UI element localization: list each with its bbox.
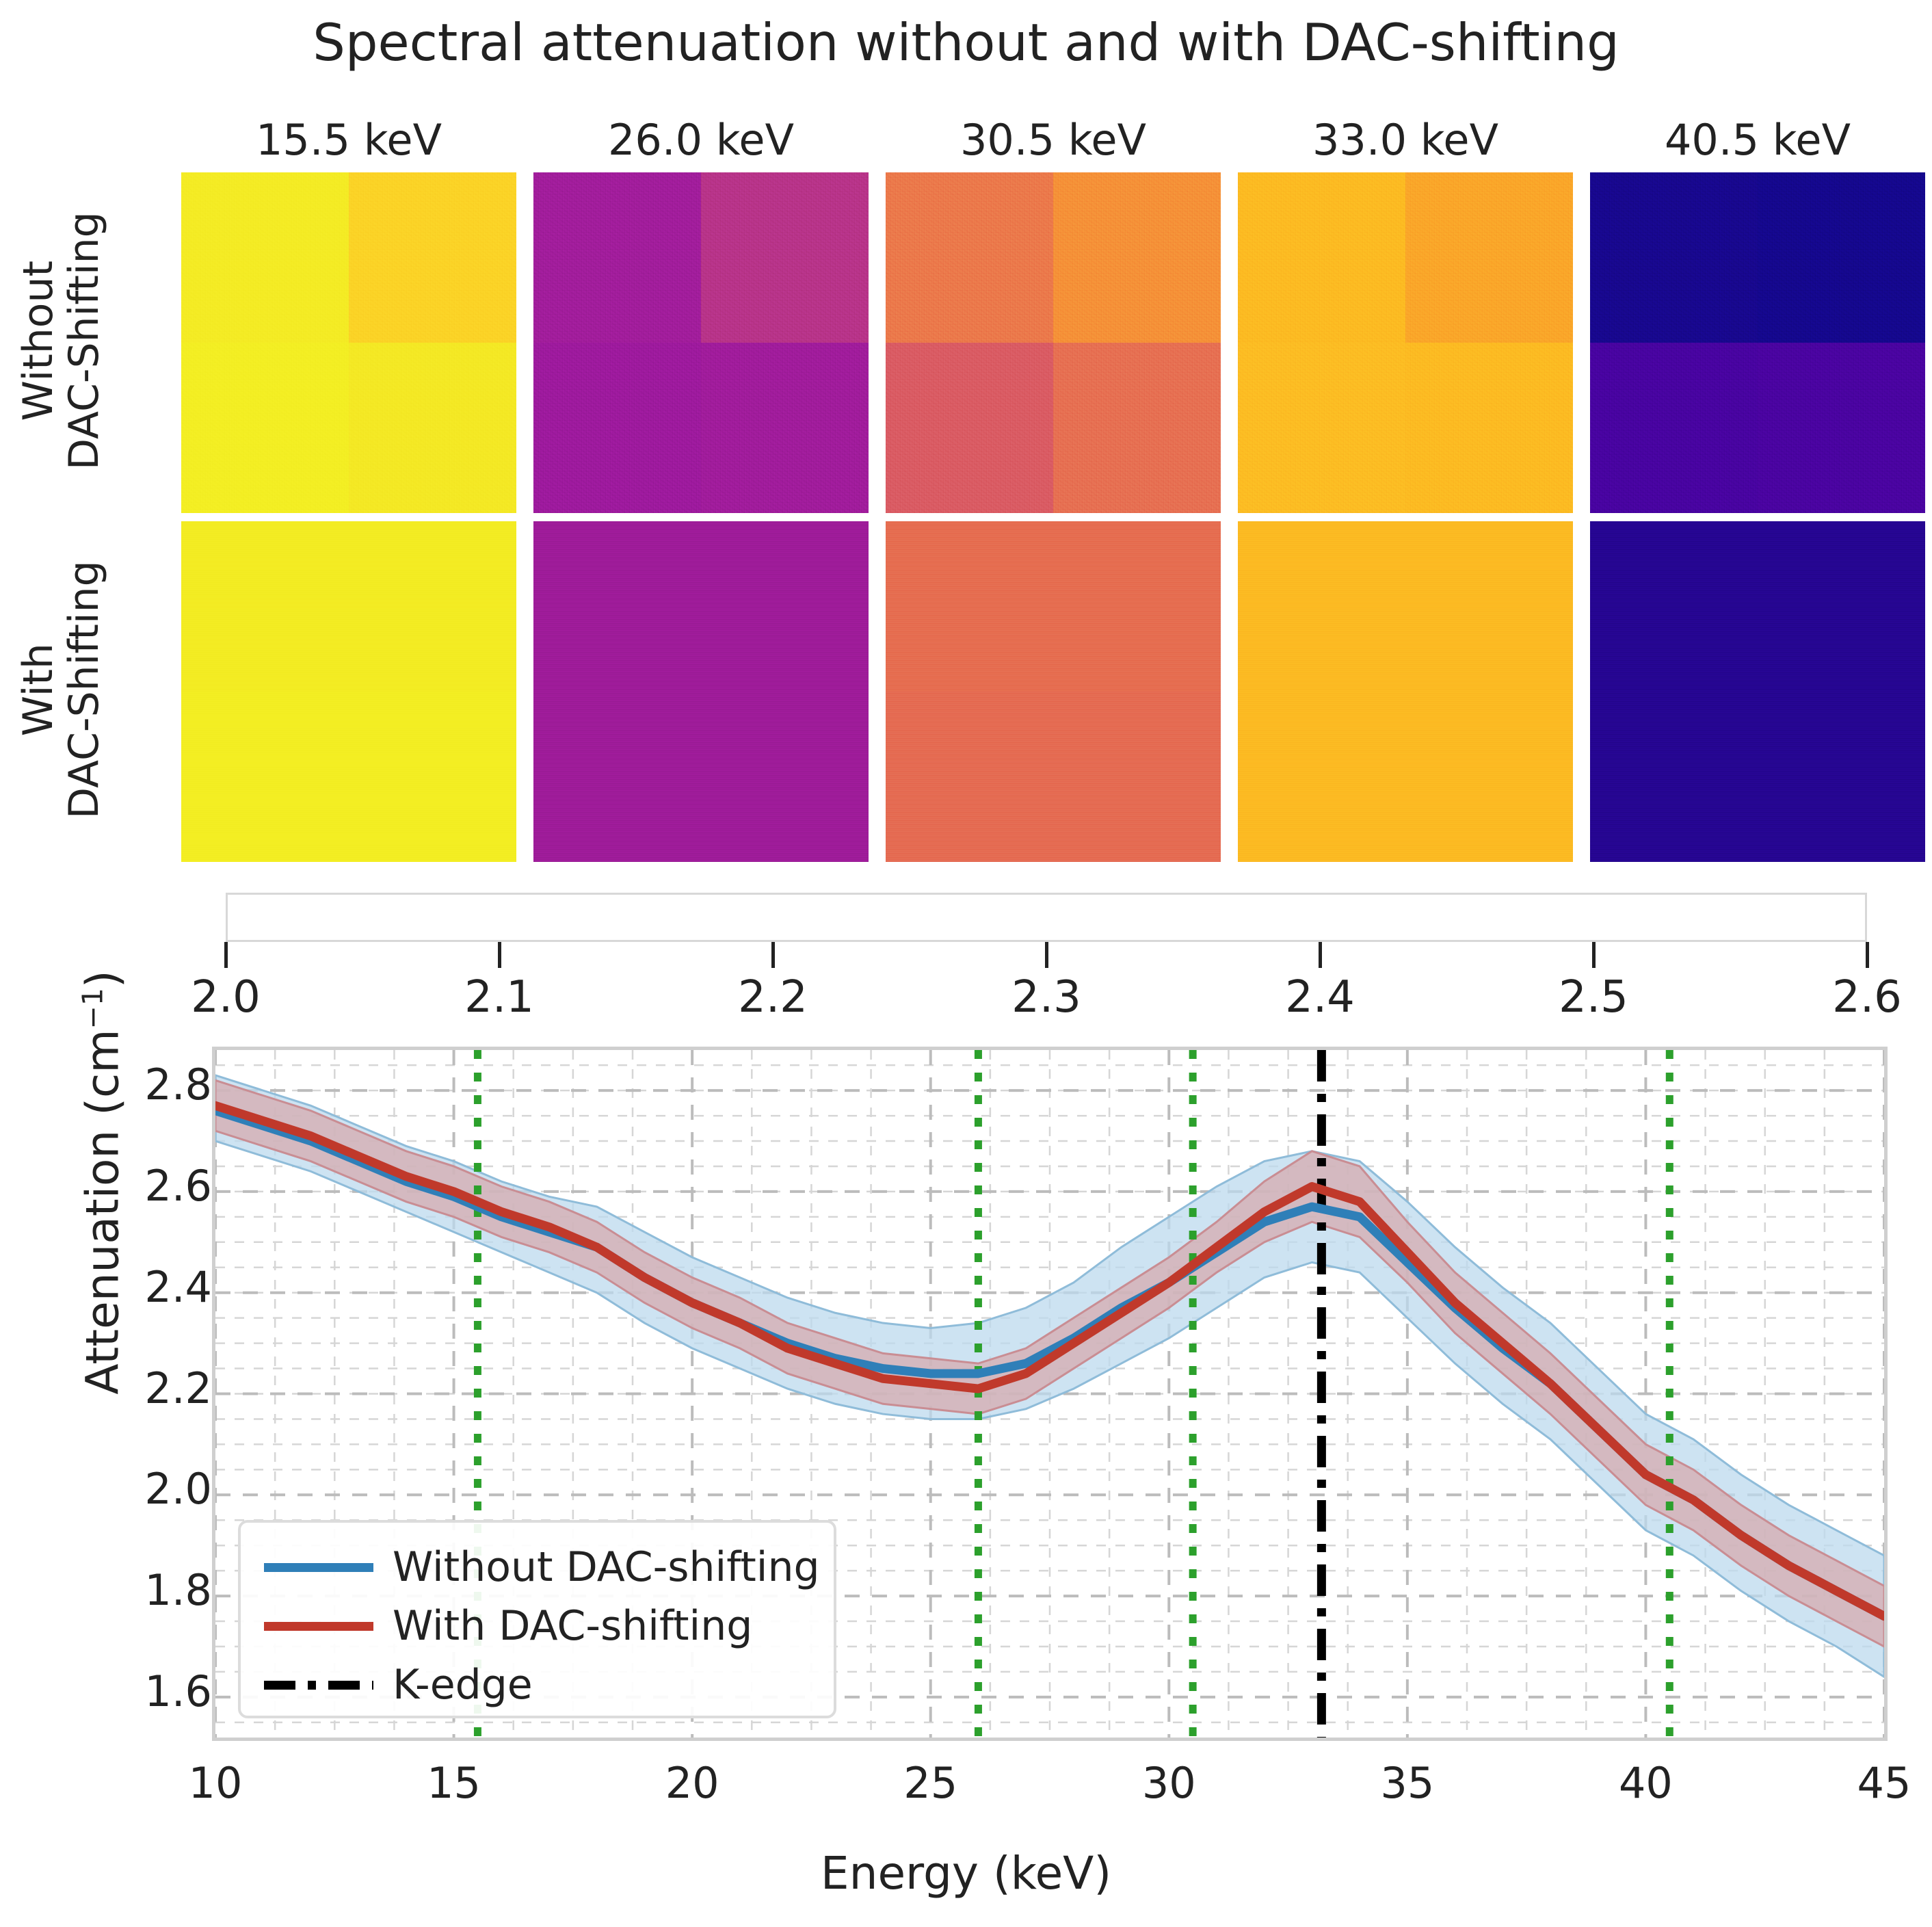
plot-legend: Without DAC-shifting With DAC-shifting K… bbox=[238, 1520, 836, 1718]
legend-label-kedge: K-edge bbox=[393, 1661, 533, 1709]
colorbar-tick-label: 2.4 bbox=[1238, 972, 1402, 1023]
legend-label-with: With DAC-shifting bbox=[393, 1602, 752, 1650]
colorbar-tick-label: 2.5 bbox=[1511, 972, 1676, 1023]
panel-quadrant-tr bbox=[1758, 172, 1925, 343]
panel-quadrant-br bbox=[1758, 343, 1925, 513]
panel-without-15-5-kev bbox=[181, 172, 516, 513]
panel-without-40-5-kev bbox=[1590, 172, 1925, 513]
x-axis-title: Energy (keV) bbox=[0, 1847, 1932, 1900]
panel-quadrant-tl bbox=[533, 521, 701, 692]
panel-quadrant-tl bbox=[181, 172, 349, 343]
panel-quadrant-tl bbox=[1590, 521, 1758, 692]
panel-without-33-0-kev bbox=[1238, 172, 1573, 513]
x-tick-label: 15 bbox=[379, 1758, 529, 1808]
panel-quadrant-tl bbox=[533, 172, 701, 343]
panel-quadrant-tr bbox=[349, 172, 516, 343]
x-tick-label: 40 bbox=[1570, 1758, 1721, 1808]
panel-quadrant-br bbox=[701, 692, 869, 862]
column-header-26-0kev: 26.0 keV bbox=[533, 115, 869, 165]
legend-label-without: Without DAC-shifting bbox=[393, 1543, 820, 1591]
panel-with-30-5-kev bbox=[886, 521, 1221, 862]
panel-quadrant-tr bbox=[1405, 521, 1573, 692]
colorbar-tick-mark bbox=[224, 942, 228, 968]
panel-quadrant-tr bbox=[1758, 521, 1925, 692]
panel-with-40-5-kev bbox=[1590, 521, 1925, 862]
panel-quadrant-tr bbox=[349, 521, 516, 692]
colorbar-gradient bbox=[226, 893, 1867, 942]
panel-quadrant-tl bbox=[1238, 521, 1405, 692]
panel-quadrant-bl bbox=[1590, 692, 1758, 862]
legend-item-kedge[interactable]: K-edge bbox=[264, 1655, 834, 1714]
legend-item-with[interactable]: With DAC-shifting bbox=[264, 1597, 834, 1655]
panel-quadrant-br bbox=[1053, 343, 1221, 513]
panel-quadrant-tl bbox=[886, 521, 1053, 692]
colorbar-tick-mark bbox=[498, 942, 501, 968]
panel-quadrant-bl bbox=[1590, 343, 1758, 513]
panel-quadrant-br bbox=[1405, 343, 1573, 513]
y-axis-title: Attenuation (cm−1) bbox=[77, 807, 129, 1559]
page-title: Spectral attenuation without and with DA… bbox=[0, 12, 1932, 73]
panel-quadrant-bl bbox=[533, 692, 701, 862]
panel-quadrant-tr bbox=[1053, 521, 1221, 692]
x-tick-label: 45 bbox=[1809, 1758, 1932, 1808]
panel-quadrant-bl bbox=[886, 343, 1053, 513]
legend-item-without[interactable]: Without DAC-shifting bbox=[264, 1538, 834, 1597]
panel-with-33-0-kev bbox=[1238, 521, 1573, 862]
panel-without-30-5-kev bbox=[886, 172, 1221, 513]
panel-quadrant-tr bbox=[701, 172, 869, 343]
panel-quadrant-tl bbox=[181, 521, 349, 692]
panel-quadrant-br bbox=[349, 692, 516, 862]
column-header-15-5kev: 15.5 keV bbox=[181, 115, 516, 165]
legend-swatch-with bbox=[264, 1622, 373, 1631]
panel-quadrant-br bbox=[1053, 692, 1221, 862]
panel-quadrant-br bbox=[1758, 692, 1925, 862]
x-tick-label: 30 bbox=[1094, 1758, 1244, 1808]
panel-quadrant-tr bbox=[1053, 172, 1221, 343]
panel-quadrant-br bbox=[349, 343, 516, 513]
x-tick-label: 35 bbox=[1332, 1758, 1483, 1808]
panel-quadrant-tl bbox=[1238, 172, 1405, 343]
colorbar-tick-label: 2.1 bbox=[417, 972, 581, 1023]
panel-with-15-5-kev bbox=[181, 521, 516, 862]
panel-quadrant-tl bbox=[1590, 172, 1758, 343]
colorbar-container bbox=[226, 893, 1867, 942]
column-header-40-5kev: 40.5 keV bbox=[1590, 115, 1925, 165]
panel-quadrant-tr bbox=[701, 521, 869, 692]
legend-swatch-without bbox=[264, 1563, 373, 1572]
panel-quadrant-br bbox=[1405, 692, 1573, 862]
y-tick-label: 1.8 bbox=[82, 1565, 212, 1615]
panel-quadrant-bl bbox=[1238, 343, 1405, 513]
x-tick-label: 25 bbox=[856, 1758, 1006, 1808]
panel-quadrant-bl bbox=[533, 343, 701, 513]
y-tick-label: 1.6 bbox=[82, 1666, 212, 1716]
panel-quadrant-br bbox=[701, 343, 869, 513]
panel-without-26-0-kev bbox=[533, 172, 869, 513]
colorbar-tick-label: 2.3 bbox=[964, 972, 1128, 1023]
colorbar-tick-mark bbox=[1045, 942, 1048, 968]
x-axis-tick-labels: 1015202530354045 bbox=[212, 1758, 1888, 1813]
colorbar-tick-label: 2.2 bbox=[691, 972, 855, 1023]
colorbar-tick-label: 2.6 bbox=[1785, 972, 1932, 1023]
colorbar-tick-mark bbox=[1866, 942, 1869, 968]
panel-quadrant-tr bbox=[1405, 172, 1573, 343]
colorbar-tick-mark bbox=[1319, 942, 1322, 968]
colorbar-tick-mark bbox=[771, 942, 775, 968]
panel-quadrant-bl bbox=[181, 692, 349, 862]
panel-with-26-0-kev bbox=[533, 521, 869, 862]
x-tick-label: 10 bbox=[140, 1758, 291, 1808]
column-header-30-5kev: 30.5 keV bbox=[886, 115, 1221, 165]
panel-quadrant-bl bbox=[181, 343, 349, 513]
panel-quadrant-tl bbox=[886, 172, 1053, 343]
column-header-33-0kev: 33.0 keV bbox=[1238, 115, 1573, 165]
colorbar-tick-label: 2.0 bbox=[144, 972, 308, 1023]
panel-quadrant-bl bbox=[886, 692, 1053, 862]
legend-swatch-kedge bbox=[264, 1681, 373, 1690]
colorbar-tick-mark bbox=[1592, 942, 1596, 968]
x-tick-label: 20 bbox=[617, 1758, 767, 1808]
panel-quadrant-bl bbox=[1238, 692, 1405, 862]
